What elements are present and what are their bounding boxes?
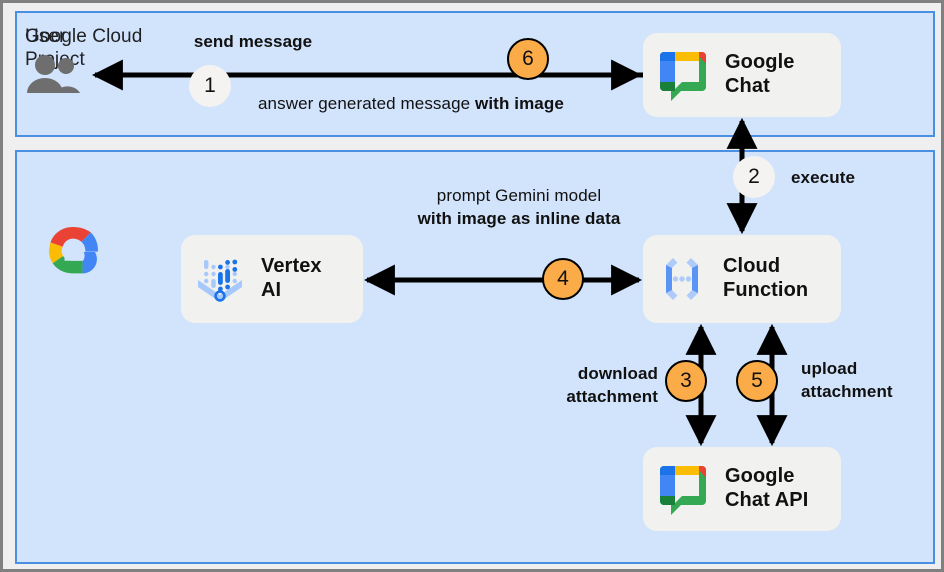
node-cloud-function[interactable]: Cloud Function xyxy=(643,235,841,323)
node-google-chat-label: Google Chat xyxy=(725,51,795,98)
step-badge-4: 4 xyxy=(542,258,584,300)
google-chat-icon xyxy=(655,461,711,517)
edge-label-answer-generated-bold: with image xyxy=(475,94,564,113)
step-badge-1: 1 xyxy=(189,65,231,107)
node-google-chat-api-label: Google Chat API xyxy=(725,465,808,512)
node-cloud-function-label: Cloud Function xyxy=(723,255,808,302)
edge-label-prompt-bold: with image as inline data xyxy=(379,208,659,231)
user-people-icon xyxy=(25,55,81,95)
edge-label-prompt-regular: prompt Gemini model xyxy=(379,185,659,208)
edge-label-prompt: prompt Gemini modelwith image as inline … xyxy=(379,185,659,230)
edge-label-upload-attachment: upload attachment xyxy=(801,358,941,403)
vertex-ai-icon xyxy=(191,250,249,308)
node-vertex-ai-label: Vertex AI xyxy=(261,255,322,302)
diagram-canvas: User Google Cloud Project xyxy=(0,0,944,572)
edge-label-download-attachment: download attachment xyxy=(503,363,658,408)
edge-label-send-message: send message xyxy=(123,31,383,54)
node-google-chat-api[interactable]: Google Chat API xyxy=(643,447,841,531)
node-vertex-ai[interactable]: Vertex AI xyxy=(181,235,363,323)
google-cloud-logo-icon xyxy=(37,225,109,283)
step-badge-6: 6 xyxy=(507,38,549,80)
step-badge-3: 3 xyxy=(665,360,707,402)
edge-label-answer-generated: answer generated message with image xyxy=(258,93,630,116)
edge-label-execute: execute xyxy=(791,167,855,190)
cloud-function-icon xyxy=(653,250,711,308)
step-badge-2: 2 xyxy=(733,156,775,198)
edge-label-answer-generated-regular: answer generated message xyxy=(258,94,475,113)
google-chat-icon xyxy=(655,47,711,103)
node-google-chat[interactable]: Google Chat xyxy=(643,33,841,117)
step-badge-5: 5 xyxy=(736,360,778,402)
